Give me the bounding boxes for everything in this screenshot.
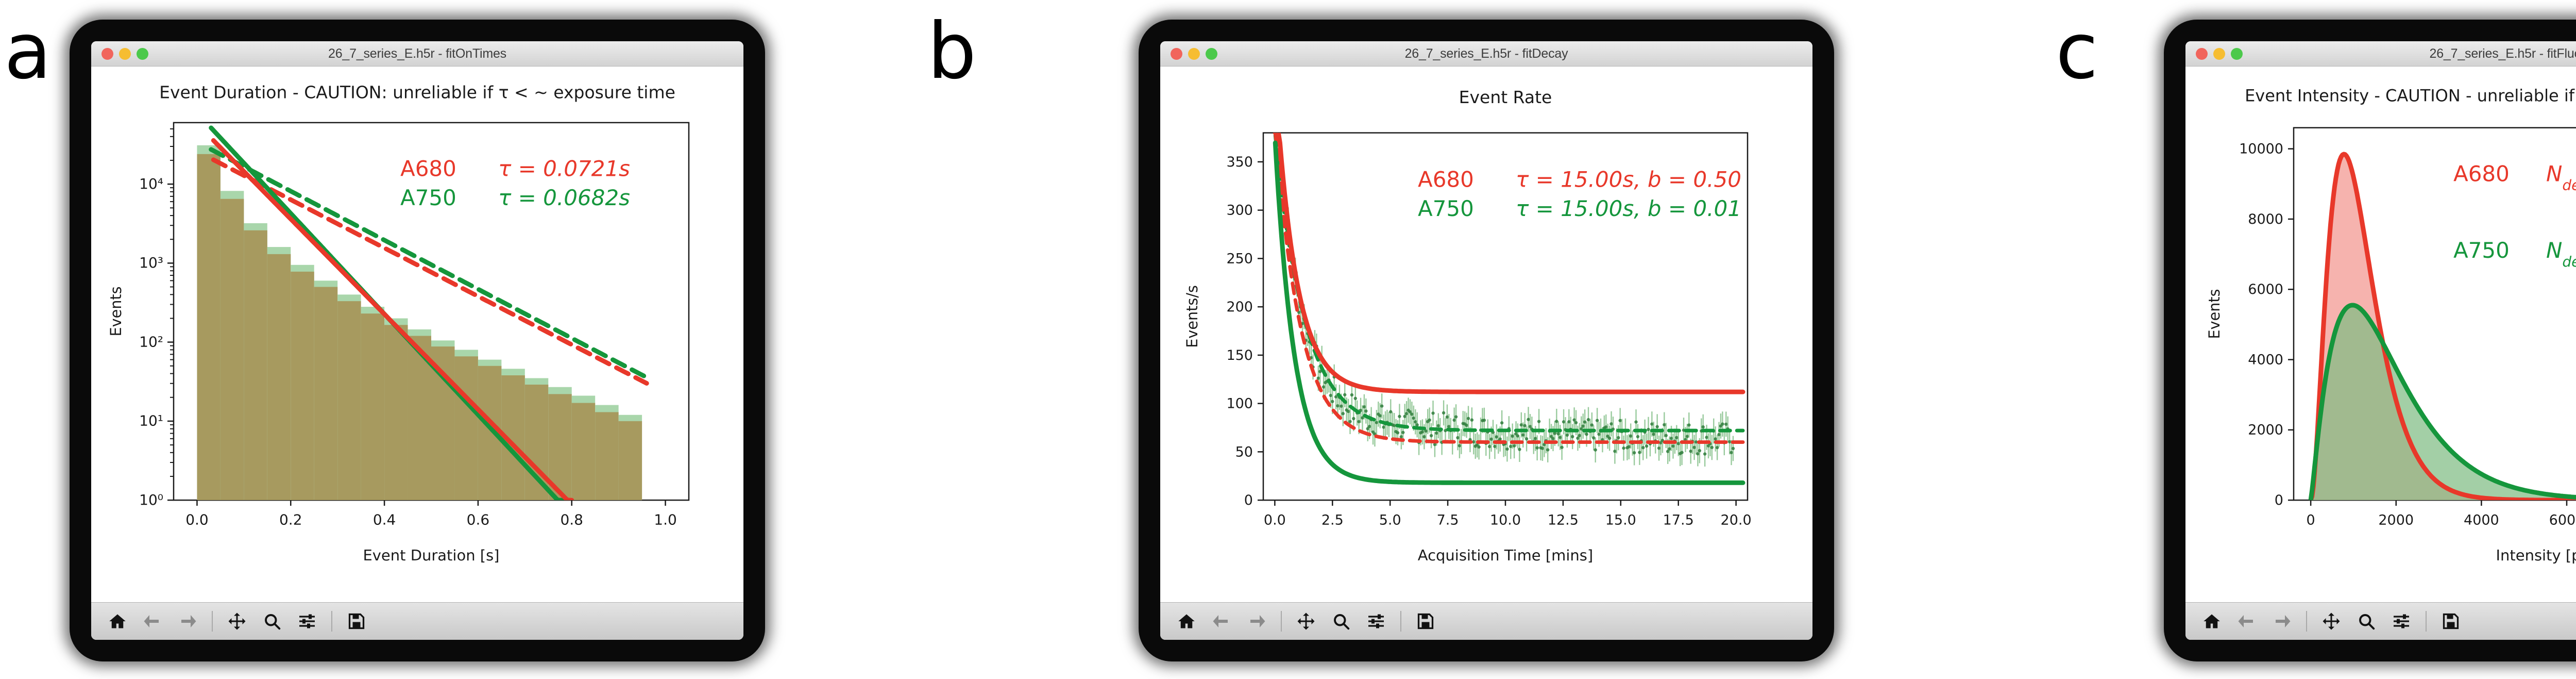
window-controls-a[interactable] xyxy=(101,48,148,60)
data-point xyxy=(1585,433,1588,436)
data-point xyxy=(1732,447,1735,450)
svg-text:10⁰: 10⁰ xyxy=(139,491,163,508)
svg-text:100: 100 xyxy=(1226,396,1253,412)
forward-arrow-icon[interactable] xyxy=(2271,610,2293,632)
annotation-a680-value-a: τ = 0.0721s xyxy=(498,156,630,181)
svg-text:0: 0 xyxy=(2307,512,2315,528)
toolbar-separator xyxy=(1281,611,1282,632)
window-c: 26_7_series_E.h5r - fitFluorBrightness E… xyxy=(2185,41,2576,640)
plot-title-a: Event Duration - CAUTION: unreliable if … xyxy=(159,83,675,103)
svg-text:10²: 10² xyxy=(139,334,163,351)
back-arrow-icon[interactable] xyxy=(142,610,163,632)
configure-subplots-icon[interactable] xyxy=(2391,610,2412,632)
data-point xyxy=(1647,428,1650,431)
data-point xyxy=(1665,434,1668,437)
annotation-a680-label-b: A680 xyxy=(1418,167,1474,192)
matplotlib-toolbar-c[interactable] xyxy=(2185,602,2576,640)
svg-text:0.0: 0.0 xyxy=(1264,512,1286,528)
hist-bar-a680 xyxy=(572,403,595,501)
device-frame-c: 26_7_series_E.h5r - fitFluorBrightness E… xyxy=(2164,20,2576,661)
data-point xyxy=(1396,431,1399,434)
data-point xyxy=(1343,393,1346,396)
forward-arrow-icon[interactable] xyxy=(1246,610,1267,632)
save-icon[interactable] xyxy=(346,610,367,632)
data-point xyxy=(1354,397,1357,400)
data-point xyxy=(1641,446,1645,449)
data-point xyxy=(1594,448,1597,451)
data-point xyxy=(1470,418,1473,421)
svg-text:0.8: 0.8 xyxy=(560,511,583,528)
data-point xyxy=(1633,451,1636,454)
device-frame-a: 26_7_series_E.h5r - fitOnTimes Event Dur… xyxy=(70,20,765,661)
data-point xyxy=(1331,400,1334,403)
svg-text:12.5: 12.5 xyxy=(1548,512,1579,528)
data-point xyxy=(1364,409,1367,412)
hist-bar-a680 xyxy=(267,254,291,500)
annotation-a680-label-a: A680 xyxy=(400,156,456,181)
x-axis-label-a: Event Duration [s] xyxy=(363,546,499,564)
annotation-a750-label-b: A750 xyxy=(1418,196,1474,221)
hist-bar-a680 xyxy=(221,199,244,500)
window-controls-c[interactable] xyxy=(2196,48,2243,60)
hist-bar-a680 xyxy=(595,412,618,500)
minimize-button-icon[interactable] xyxy=(119,48,131,60)
data-point xyxy=(1702,425,1705,428)
annotation-a680-value-b: τ = 15.00s, b = 0.50 xyxy=(1516,167,1741,192)
svg-text:150: 150 xyxy=(1226,347,1253,363)
data-point xyxy=(1571,435,1574,438)
device-frame-b: 26_7_series_E.h5r - fitDecay Event Rate xyxy=(1139,20,1834,661)
window-a: 26_7_series_E.h5r - fitOnTimes Event Dur… xyxy=(91,41,743,640)
pan-icon[interactable] xyxy=(2320,610,2342,632)
svg-text:350: 350 xyxy=(1226,154,1253,170)
data-point xyxy=(1710,446,1714,449)
data-point xyxy=(1687,423,1690,426)
data-point xyxy=(1617,436,1620,439)
back-arrow-icon[interactable] xyxy=(2236,610,2258,632)
data-point xyxy=(1518,448,1521,451)
data-point xyxy=(1537,420,1540,423)
svg-text:2000: 2000 xyxy=(2378,512,2414,528)
plot-canvas-b[interactable]: Event Rate 0.02.55.07.510.012.515.017.52… xyxy=(1160,67,1812,602)
minimize-button-icon[interactable] xyxy=(2213,48,2225,60)
data-point xyxy=(1352,417,1355,420)
home-icon[interactable] xyxy=(107,610,128,632)
annotation-a750-value-a: τ = 0.0682s xyxy=(498,185,630,210)
data-point xyxy=(1350,393,1353,396)
hist-bar-a680 xyxy=(197,154,220,500)
data-point xyxy=(1401,431,1404,434)
data-point xyxy=(1348,420,1351,423)
data-point xyxy=(1525,437,1528,440)
data-point xyxy=(1698,449,1701,452)
x-axis-label-b: Acquisition Time [mins] xyxy=(1418,546,1593,564)
data-point xyxy=(1380,404,1383,407)
data-point xyxy=(1680,451,1683,454)
home-icon[interactable] xyxy=(1176,610,1197,632)
svg-text:10³: 10³ xyxy=(139,254,163,271)
data-point xyxy=(1608,437,1611,440)
plot-title-c: Event Intensity - CAUTION - unreliable i… xyxy=(2245,86,2576,105)
svg-text:20.0: 20.0 xyxy=(1721,512,1752,528)
data-point xyxy=(1560,446,1563,449)
titlebar-c: 26_7_series_E.h5r - fitFluorBrightness xyxy=(2185,41,2576,67)
svg-text:250: 250 xyxy=(1226,251,1253,267)
svg-text:2.5: 2.5 xyxy=(1321,512,1344,528)
svg-text:0.6: 0.6 xyxy=(467,511,490,528)
data-point xyxy=(1415,423,1418,426)
data-point xyxy=(1442,411,1445,415)
plot-title-b: Event Rate xyxy=(1459,88,1552,107)
x-axis-label-c: Intensity [photons] xyxy=(2496,546,2576,564)
save-icon[interactable] xyxy=(2440,610,2462,632)
maximize-button-icon[interactable] xyxy=(137,48,148,60)
svg-text:0: 0 xyxy=(2275,492,2283,508)
configure-subplots-icon[interactable] xyxy=(296,610,318,632)
window-title-c: 26_7_series_E.h5r - fitFluorBrightness xyxy=(2185,46,2576,61)
svg-text:8000: 8000 xyxy=(2248,211,2283,227)
y-axis-label-b: Events/s xyxy=(1183,285,1201,348)
minimize-button-icon[interactable] xyxy=(1188,48,1200,60)
figure-c: Event Intensity - CAUTION - unreliable i… xyxy=(2185,67,2576,602)
toolbar-separator xyxy=(331,611,332,632)
close-button-icon[interactable] xyxy=(2196,48,2208,60)
data-point xyxy=(1483,419,1486,422)
panel-letter-a: a xyxy=(4,13,52,90)
back-arrow-icon[interactable] xyxy=(1211,610,1232,632)
svg-text:0.2: 0.2 xyxy=(279,511,302,528)
annotation-a680-label-c: A680 xyxy=(2453,161,2510,187)
pan-icon[interactable] xyxy=(1295,610,1317,632)
data-point xyxy=(1454,415,1458,418)
annotation-a750-value-b: τ = 15.00s, b = 0.01 xyxy=(1516,196,1741,221)
close-button-icon[interactable] xyxy=(101,48,113,60)
hist-bar-a680 xyxy=(384,325,408,500)
configure-subplots-icon[interactable] xyxy=(1365,610,1387,632)
svg-text:0.4: 0.4 xyxy=(373,511,396,528)
y-axis-label-a: Events xyxy=(107,286,125,336)
data-point xyxy=(1622,446,1625,450)
annotation-a750-label-a: A750 xyxy=(400,185,456,210)
save-icon[interactable] xyxy=(1415,610,1436,632)
maximize-button-icon[interactable] xyxy=(1206,48,1217,60)
y-axis-label-c: Events xyxy=(2206,289,2223,339)
window-b: 26_7_series_E.h5r - fitDecay Event Rate xyxy=(1160,41,1812,640)
figure-a: Event Duration - CAUTION: unreliable if … xyxy=(91,67,743,602)
matplotlib-toolbar-a[interactable] xyxy=(91,602,743,640)
zoom-icon[interactable] xyxy=(2355,610,2377,632)
close-button-icon[interactable] xyxy=(1171,48,1182,60)
svg-text:200: 200 xyxy=(1226,299,1253,315)
zoom-icon[interactable] xyxy=(1330,610,1352,632)
data-point xyxy=(1703,452,1706,455)
svg-text:10⁴: 10⁴ xyxy=(139,175,163,192)
svg-text:7.5: 7.5 xyxy=(1437,512,1459,528)
data-point xyxy=(1467,417,1470,420)
data-point xyxy=(1430,434,1433,437)
toolbar-separator xyxy=(212,611,213,632)
data-point xyxy=(1596,419,1599,422)
svg-text:6000: 6000 xyxy=(2248,281,2283,297)
data-point xyxy=(1428,419,1431,422)
hist-bar-a680 xyxy=(337,301,361,500)
window-title-a: 26_7_series_E.h5r - fitOnTimes xyxy=(91,46,743,61)
data-point xyxy=(1499,437,1502,440)
data-point xyxy=(1634,420,1637,423)
data-point xyxy=(1276,127,1279,130)
data-point xyxy=(1342,412,1345,415)
data-point xyxy=(1431,411,1434,415)
svg-text:0: 0 xyxy=(1244,492,1253,508)
svg-text:15.0: 15.0 xyxy=(1605,512,1636,528)
svg-text:1.0: 1.0 xyxy=(654,511,677,528)
window-title-b: 26_7_series_E.h5r - fitDecay xyxy=(1160,46,1812,61)
pan-icon[interactable] xyxy=(226,610,248,632)
hist-bar-a680 xyxy=(454,356,478,500)
data-point xyxy=(1655,425,1658,428)
plot-canvas-c[interactable]: Event Intensity - CAUTION - unreliable i… xyxy=(2185,67,2576,602)
hist-bar-a680 xyxy=(619,421,642,500)
hist-bar-a680 xyxy=(361,313,384,500)
svg-text:17.5: 17.5 xyxy=(1663,512,1694,528)
data-point xyxy=(1477,445,1480,449)
svg-text:0.0: 0.0 xyxy=(185,511,209,528)
hist-bar-a680 xyxy=(291,272,314,500)
toolbar-separator xyxy=(2426,611,2427,632)
data-point xyxy=(1574,421,1578,424)
svg-text:4000: 4000 xyxy=(2248,352,2283,368)
data-point xyxy=(1535,446,1538,449)
svg-text:6000: 6000 xyxy=(2549,512,2576,528)
data-point xyxy=(1398,415,1401,418)
svg-text:10.0: 10.0 xyxy=(1490,512,1521,528)
svg-text:50: 50 xyxy=(1235,444,1253,460)
zoom-icon[interactable] xyxy=(261,610,283,632)
svg-text:10¹: 10¹ xyxy=(139,412,163,429)
window-controls-b[interactable] xyxy=(1171,48,1217,60)
titlebar-a: 26_7_series_E.h5r - fitOnTimes xyxy=(91,41,743,67)
svg-text:4000: 4000 xyxy=(2464,512,2499,528)
panel-letter-b: b xyxy=(927,13,976,90)
figure-b: Event Rate 0.02.55.07.510.012.515.017.52… xyxy=(1160,67,1812,602)
panel-letter-c: c xyxy=(2056,13,2098,90)
data-point xyxy=(1274,108,1277,111)
data-point xyxy=(1505,448,1509,451)
toolbar-separator xyxy=(1400,611,1401,632)
hist-bar-a680 xyxy=(244,230,267,500)
titlebar-b: 26_7_series_E.h5r - fitDecay xyxy=(1160,41,1812,67)
home-icon[interactable] xyxy=(2201,610,2223,632)
svg-text:2000: 2000 xyxy=(2248,422,2283,438)
forward-arrow-icon[interactable] xyxy=(177,610,198,632)
maximize-button-icon[interactable] xyxy=(2231,48,2243,60)
toolbar-separator xyxy=(2306,611,2307,632)
hist-bar-a680 xyxy=(525,385,548,500)
data-point xyxy=(1645,444,1648,448)
plot-canvas-a[interactable]: Event Duration - CAUTION: unreliable if … xyxy=(91,67,743,602)
data-point xyxy=(1721,422,1724,425)
data-point xyxy=(1500,421,1503,424)
data-point xyxy=(1636,435,1639,438)
annotation-a750-label-c: A750 xyxy=(2453,238,2510,263)
svg-text:10000: 10000 xyxy=(2239,141,2283,157)
hist-bar-a680 xyxy=(314,287,337,500)
data-point xyxy=(1546,448,1549,451)
svg-text:5.0: 5.0 xyxy=(1379,512,1401,528)
svg-text:300: 300 xyxy=(1226,203,1253,219)
matplotlib-toolbar-b[interactable] xyxy=(1160,602,1812,640)
